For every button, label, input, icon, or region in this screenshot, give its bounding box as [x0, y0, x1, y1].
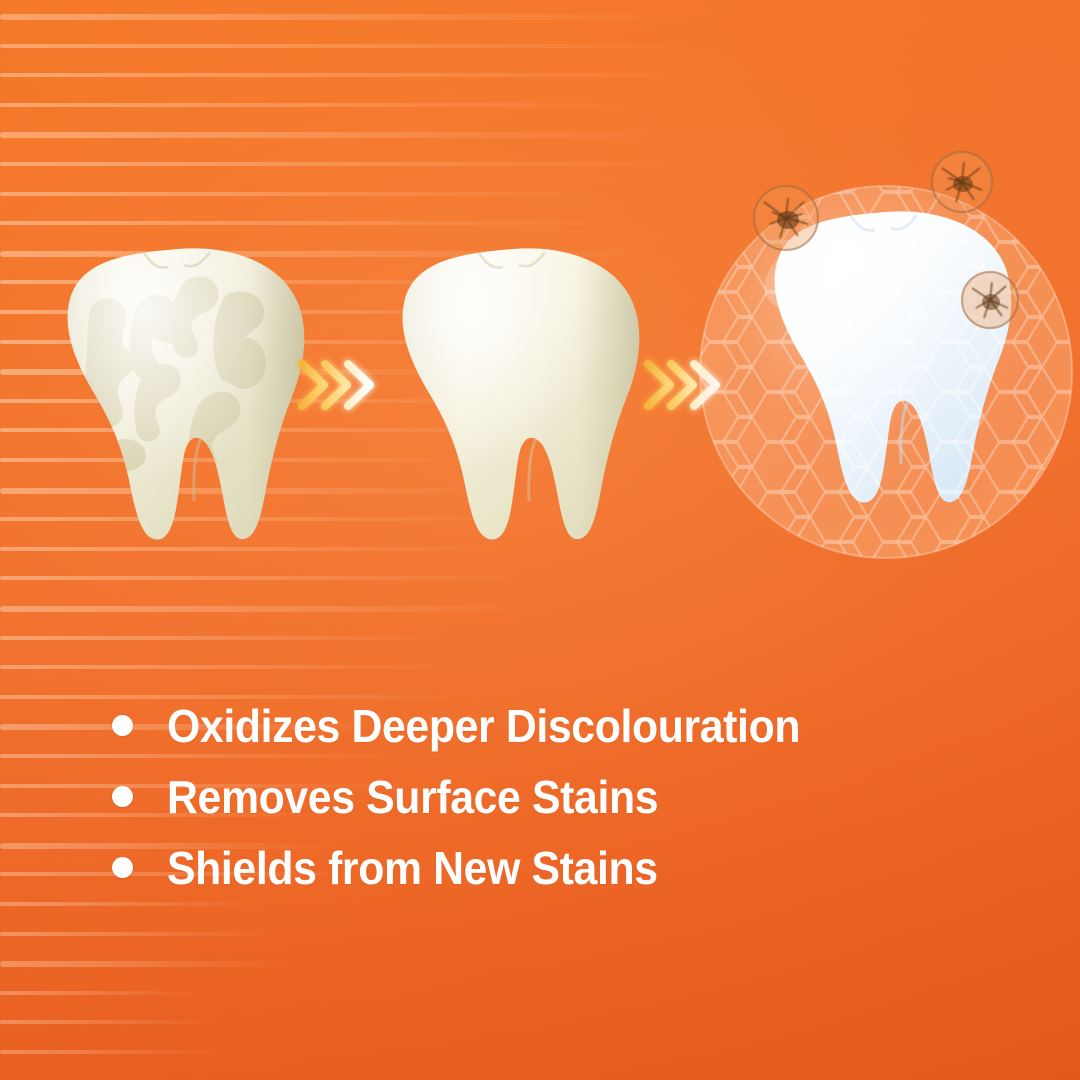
speed-line: [0, 636, 453, 640]
benefit-item: Removes Surface Stains: [112, 761, 1012, 832]
speed-line: [0, 1020, 216, 1024]
tooth-progression-row: [0, 0, 1080, 620]
benefits-list: Oxidizes Deeper DiscolourationRemoves Su…: [112, 690, 1012, 903]
benefit-label: Removes Surface Stains: [167, 774, 658, 820]
stain-particle-3: [962, 272, 1018, 328]
stage-2-cleaned-tooth: [383, 243, 645, 543]
speed-line: [0, 1050, 229, 1054]
bullet-dot-icon: [112, 715, 133, 736]
benefit-label: Shields from New Stains: [167, 845, 658, 891]
stained-tooth-icon: [48, 243, 310, 543]
bullet-dot-icon: [112, 786, 133, 807]
speed-line: [0, 991, 203, 995]
clean-tooth-icon: [383, 243, 645, 543]
bullet-dot-icon: [112, 857, 133, 878]
speed-line: [0, 665, 466, 669]
stain-particle-2: [932, 152, 992, 212]
speed-line: [0, 932, 278, 936]
benefit-item: Shields from New Stains: [112, 832, 1012, 903]
shielded-white-tooth-icon: [690, 140, 1080, 560]
speed-line: [0, 961, 292, 967]
benefit-label: Oxidizes Deeper Discolouration: [167, 703, 800, 749]
stage-1-stained-tooth: [48, 243, 310, 543]
stage-3-shielded-tooth: [690, 140, 1080, 560]
promo-graphic: Oxidizes Deeper DiscolourationRemoves Su…: [0, 0, 1080, 1080]
stain-particle-1: [754, 186, 818, 250]
benefit-item: Oxidizes Deeper Discolouration: [112, 690, 1012, 761]
